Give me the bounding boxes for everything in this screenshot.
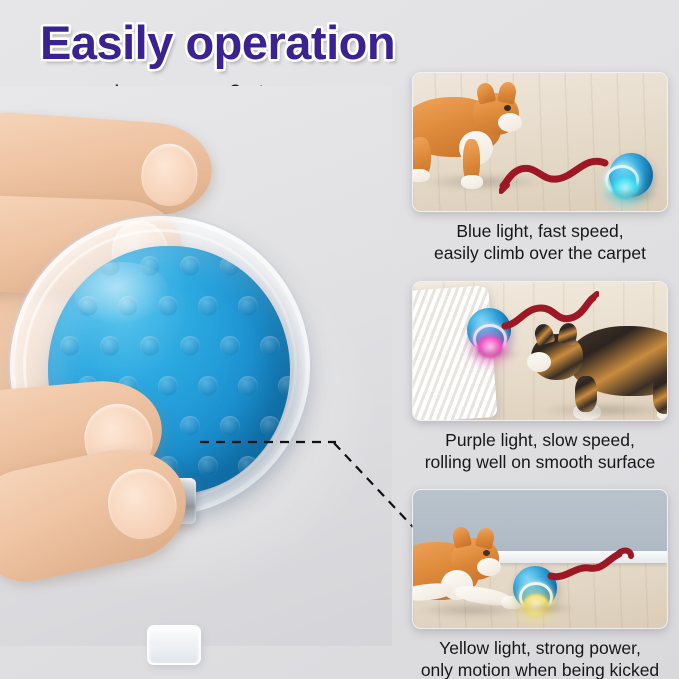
feature-photo-1 xyxy=(412,72,668,212)
ball-dimple xyxy=(260,336,280,356)
ball-dimple xyxy=(158,376,178,396)
toy-shadow xyxy=(465,348,521,360)
ball-dimple xyxy=(278,456,290,476)
ball-dimple xyxy=(260,256,280,276)
cat-hind-paw xyxy=(412,169,430,182)
cat-ear-left xyxy=(451,525,472,548)
ball-dimple xyxy=(180,256,200,276)
cat-muzzle xyxy=(498,113,522,132)
caption-line-1: Yellow light, strong power, xyxy=(412,637,668,659)
feature-caption-1: Blue light, fast speed, easily climb ove… xyxy=(412,220,668,264)
cat-muzzle xyxy=(527,352,551,372)
ball-dimple xyxy=(198,456,218,476)
feature-panel-1: Blue light, fast speed, easily climb ove… xyxy=(412,72,668,264)
ball-dimple xyxy=(238,296,258,316)
ball-dimple xyxy=(260,416,280,436)
caption-line-1: Purple light, slow speed, xyxy=(412,429,668,451)
cat-eye xyxy=(504,105,511,111)
orange-tabby-cat xyxy=(412,83,531,188)
caption-line-2: easily climb over the carpet xyxy=(412,242,668,264)
feature-caption-3: Yellow light, strong power, only motion … xyxy=(412,637,668,679)
ball-dimple xyxy=(278,376,290,396)
cat-ear-right xyxy=(557,322,578,346)
feature-panel-2: Purple light, slow speed, rolling well o… xyxy=(412,281,668,473)
product-hero-photo xyxy=(0,86,392,646)
feature-caption-2: Purple light, slow speed, rolling well o… xyxy=(412,429,668,473)
ball-dimple xyxy=(60,256,80,276)
feature-panel-3: Yellow light, strong power, only motion … xyxy=(412,489,668,679)
ball-dimple xyxy=(180,336,200,356)
toy-shadow xyxy=(601,189,661,202)
ball-dimple xyxy=(220,256,240,276)
ball-dimple xyxy=(198,376,218,396)
fingernail xyxy=(139,142,199,208)
thumbnail xyxy=(102,462,183,545)
cat-muzzle xyxy=(477,558,501,576)
ball-dimple xyxy=(60,336,80,356)
ball-dimple xyxy=(238,456,258,476)
cat-front-paw xyxy=(461,175,483,189)
ball-dimple xyxy=(220,336,240,356)
ball-highlight xyxy=(74,262,170,324)
cat-ear-right xyxy=(497,80,518,104)
cat-shadow xyxy=(541,402,668,418)
caption-line-2: only motion when being kicked xyxy=(412,659,668,679)
ball-dimple xyxy=(220,416,240,436)
feature-photo-2 xyxy=(412,281,668,421)
caption-line-2: rolling well on smooth surface xyxy=(412,451,668,473)
ball-dimple xyxy=(180,416,200,436)
ball-dimple xyxy=(238,376,258,396)
ball-dimple xyxy=(198,296,218,316)
cat-ear-left xyxy=(475,81,496,105)
caption-line-1: Blue light, fast speed, xyxy=(412,220,668,242)
page-title: Easily operation xyxy=(40,16,395,70)
toy-shadow xyxy=(513,602,575,615)
ball-dimple xyxy=(278,296,290,316)
cat-eye xyxy=(483,550,490,556)
shell-nub-bottom xyxy=(147,625,201,665)
ball-dimple xyxy=(100,336,120,356)
feature-photo-3 xyxy=(412,489,668,629)
ball-dimple xyxy=(140,336,160,356)
